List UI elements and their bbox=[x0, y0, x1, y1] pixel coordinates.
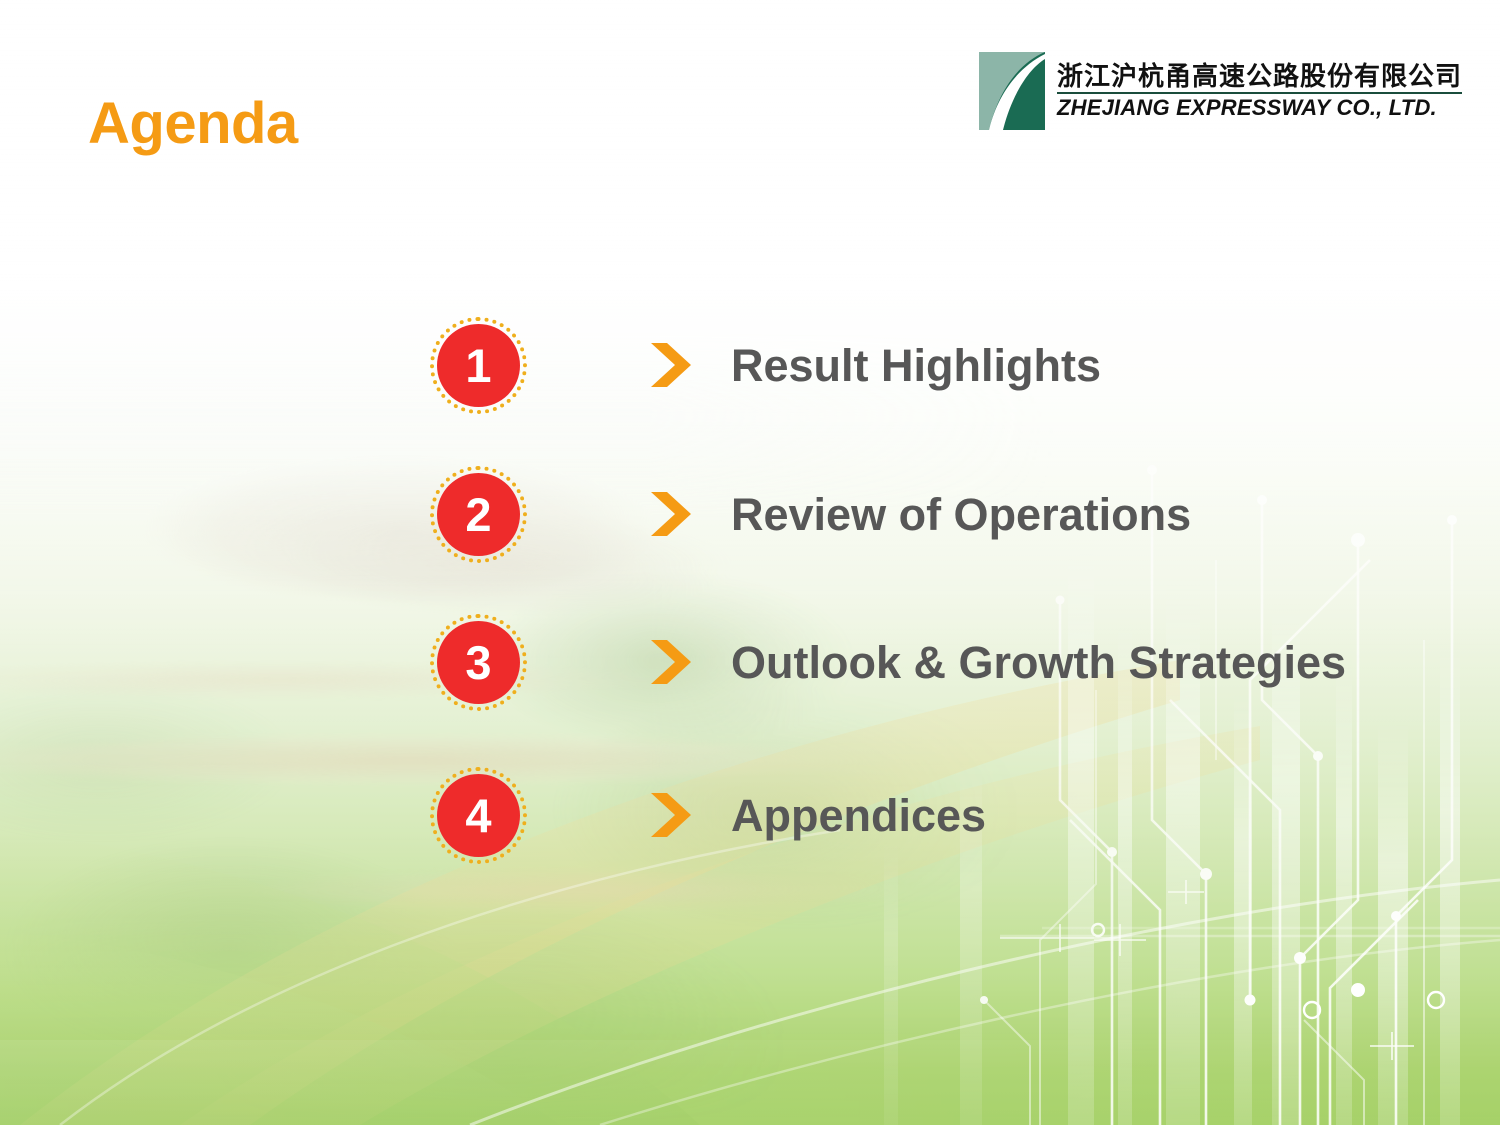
agenda-item-label: Outlook & Growth Strategies bbox=[731, 640, 1346, 685]
agenda-slide: Agenda 浙江沪杭甬高速公路股份有限公司 ZHEJIANG EXPRESSW… bbox=[0, 0, 1500, 1125]
agenda-item-label: Review of Operations bbox=[731, 492, 1191, 537]
agenda-item-1[interactable]: 1 Result Highlights bbox=[430, 315, 1101, 415]
agenda-number-badge: 4 bbox=[430, 767, 527, 864]
agenda-item-2[interactable]: 2 Review of Operations bbox=[430, 464, 1191, 564]
chevron-right-icon bbox=[649, 341, 693, 389]
agenda-number-badge: 2 bbox=[430, 466, 527, 563]
chevron-right-icon bbox=[649, 791, 693, 839]
agenda-item-4[interactable]: 4 Appendices bbox=[430, 765, 986, 865]
agenda-number: 2 bbox=[465, 491, 491, 538]
agenda-number: 1 bbox=[465, 342, 491, 389]
agenda-item-label: Appendices bbox=[731, 793, 986, 838]
agenda-number-badge: 1 bbox=[430, 317, 527, 414]
agenda-item-label: Result Highlights bbox=[731, 343, 1101, 388]
agenda-item-3[interactable]: 3 Outlook & Growth Strategies bbox=[430, 612, 1346, 712]
agenda-number-badge: 3 bbox=[430, 614, 527, 711]
chevron-right-icon bbox=[649, 490, 693, 538]
agenda-list: 1 Result Highlights 2 Review of Operatio… bbox=[0, 0, 1500, 1125]
agenda-number: 3 bbox=[465, 639, 491, 686]
agenda-number: 4 bbox=[465, 792, 491, 839]
chevron-right-icon bbox=[649, 638, 693, 686]
